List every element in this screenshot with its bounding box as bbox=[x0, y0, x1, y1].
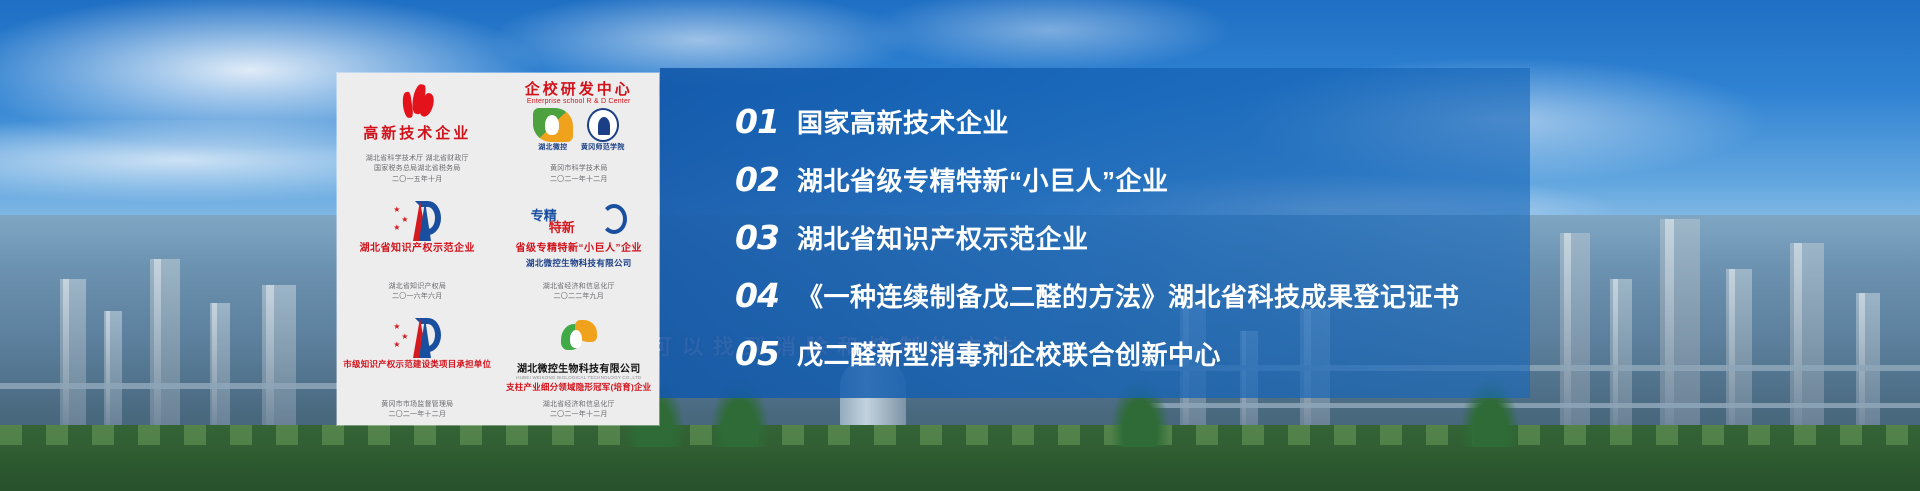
list-item-number: 03 bbox=[735, 218, 797, 257]
certificate-card-yinxing-guanjun[interactable]: 湖北微控生物科技有限公司 HUBEI WEIKONG BIOLOGICAL TE… bbox=[499, 308, 660, 425]
certificate-card-xiaojuren[interactable]: 专精 特新 省级专精特新“小巨人”企业 湖北微控生物科技有限公司 湖北省经济和信… bbox=[499, 191, 660, 308]
certificate-card-rd-center[interactable]: 企校研发中心 Enterprise school R & D Center 湖北… bbox=[499, 73, 660, 190]
lawn bbox=[0, 425, 1920, 491]
list-item[interactable]: 02 湖北省级专精特新“小巨人”企业 bbox=[735, 150, 1525, 208]
logo-label-weikong: 湖北微控 bbox=[538, 142, 567, 152]
certificate-caption: 湖北省知识产权局 二〇一六年六月 bbox=[337, 282, 498, 302]
certificate-grid: 高新技术企业 湖北省科学技术厅 湖北省财政厅 国家税务总局湖北省税务局 二〇一五… bbox=[337, 73, 659, 425]
list-item[interactable]: 03 湖北省知识产权示范企业 bbox=[735, 208, 1525, 266]
list-item-label: 国家高新技术企业 bbox=[797, 103, 1009, 140]
list-item-label: 湖北省级专精特新“小巨人”企业 bbox=[797, 161, 1169, 198]
certificate-subtitle: 湖北微控生物科技有限公司 bbox=[526, 257, 632, 269]
certificate-title: 高新技术企业 bbox=[363, 125, 471, 142]
certificate-english: HUBEI WEIKONG BIOLOGICAL TECHNOLOGY CO.,… bbox=[516, 375, 641, 380]
certificate-title: 支柱产业细分领域隐形冠军(培育)企业 bbox=[506, 383, 651, 393]
list-item[interactable]: 05 戊二醛新型消毒剂企校联合创新中心 bbox=[735, 324, 1525, 382]
list-item-number: 01 bbox=[735, 102, 797, 141]
certificate-card-city-ip[interactable]: ★ ★ ★ 市级知识产权示范建设类项目承担单位 黄冈市市场监督管理局 二〇二一年… bbox=[337, 308, 498, 425]
list-item[interactable]: 01 国家高新技术企业 bbox=[735, 92, 1525, 150]
certificate-card-ip-demo[interactable]: ★ ★ ★ 湖北省知识产权示范企业 湖北省知识产权局 二〇一六年六月 bbox=[337, 191, 498, 308]
honors-panel: 01 国家高新技术企业 02 湖北省级专精特新“小巨人”企业 03 湖北省知识产… bbox=[660, 68, 1530, 398]
swan-icon bbox=[533, 108, 573, 142]
logo-label-university: 黄冈师范学院 bbox=[581, 142, 625, 152]
certificate-caption: 湖北省经济和信息化厅 二〇二二年九月 bbox=[499, 282, 660, 302]
list-item-number: 05 bbox=[735, 334, 797, 373]
certificate-caption: 黄冈市科学技术局 二〇二一年十二月 bbox=[499, 164, 660, 184]
university-shield-icon bbox=[587, 108, 619, 142]
certificate-caption: 湖北省科学技术厅 湖北省财政厅 国家税务总局湖北省税务局 二〇一五年十月 bbox=[337, 154, 498, 184]
certificate-title: 市级知识产权示范建设类项目承担单位 bbox=[343, 360, 491, 370]
zhuanjing-texin-icon: 专精 特新 bbox=[531, 197, 627, 243]
list-item-number: 02 bbox=[735, 160, 797, 199]
certificate-caption: 黄冈市市场监督管理局 二〇二一年十二月 bbox=[337, 400, 498, 420]
certificate-english: Enterprise school R & D Center bbox=[527, 98, 631, 105]
green-swan-icon bbox=[559, 314, 599, 360]
list-item[interactable]: 04 《一种连续制备戊二醛的方法》湖北省科技成果登记证书 bbox=[735, 266, 1525, 324]
honors-list: 01 国家高新技术企业 02 湖北省级专精特新“小巨人”企业 03 湖北省知识产… bbox=[735, 92, 1525, 382]
list-item-label: 《一种连续制备戊二醛的方法》湖北省科技成果登记证书 bbox=[797, 277, 1460, 314]
flame-icon bbox=[400, 79, 434, 125]
certificate-title: 省级专精特新“小巨人”企业 bbox=[516, 243, 643, 255]
certificate-caption: 湖北省经济和信息化厅 二〇二一年十二月 bbox=[499, 400, 660, 420]
p-star-icon: ★ ★ ★ bbox=[391, 197, 443, 243]
list-item-label: 湖北省知识产权示范企业 bbox=[797, 219, 1089, 256]
list-item-label: 戊二醛新型消毒剂企校联合创新中心 bbox=[797, 335, 1221, 372]
certificate-subtitle: 湖北微控生物科技有限公司 bbox=[517, 360, 641, 375]
certificate-card-gaoxin[interactable]: 高新技术企业 湖北省科学技术厅 湖北省财政厅 国家税务总局湖北省税务局 二〇一五… bbox=[337, 73, 498, 190]
list-item-number: 04 bbox=[735, 276, 797, 315]
certificate-title: 湖北省知识产权示范企业 bbox=[360, 243, 476, 255]
partner-logos: 湖北微控 黄冈师范学院 bbox=[533, 107, 625, 153]
certificate-title: 企校研发中心 bbox=[525, 81, 633, 98]
banner-stage: 全 隐患都可以找到消除和控制的方法 01 国家高新技术企业 02 湖北省级专精特… bbox=[0, 0, 1920, 491]
p-star-icon: ★ ★ ★ bbox=[391, 314, 443, 360]
